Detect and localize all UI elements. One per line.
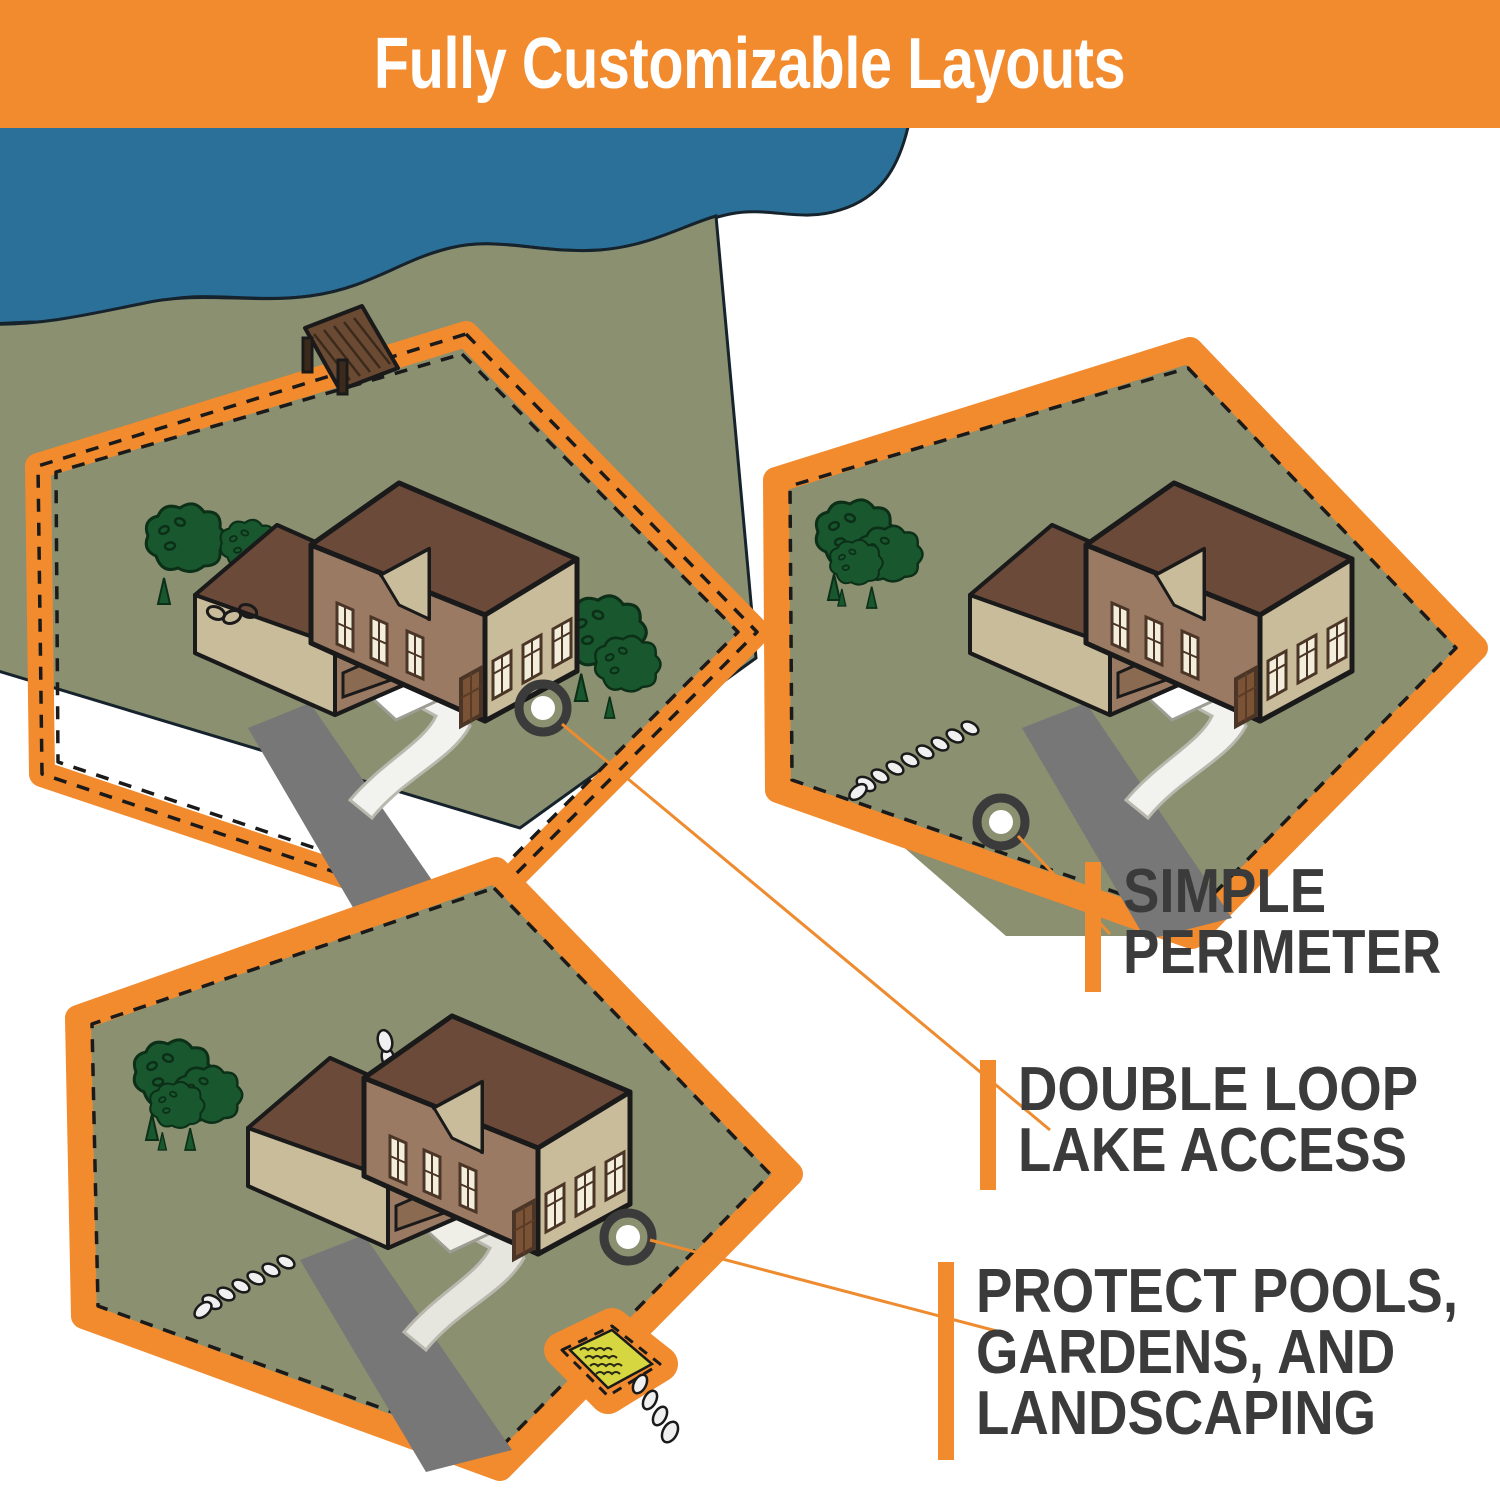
callout-accent-bar xyxy=(1085,862,1101,992)
yard-simple-perimeter[interactable] xyxy=(776,350,1475,940)
page-title: Fully Customizable Layouts xyxy=(374,28,1125,100)
callout-line: DOUBLE LOOP xyxy=(1018,1060,1418,1121)
callout-double-loop-lake-access: DOUBLE LOOP LAKE ACCESS xyxy=(980,1060,1473,1190)
callout-line: LAKE ACCESS xyxy=(1018,1121,1418,1182)
callout-text: PROTECT POOLS, GARDENS, AND LANDSCAPING xyxy=(976,1262,1458,1460)
header-band: Fully Customizable Layouts xyxy=(0,0,1500,128)
callout-accent-bar xyxy=(938,1262,954,1460)
callout-text: SIMPLE PERIMETER xyxy=(1123,862,1441,992)
callout-simple-perimeter: SIMPLE PERIMETER xyxy=(1085,862,1485,992)
callout-accent-bar xyxy=(980,1060,996,1190)
callout-line: SIMPLE xyxy=(1123,862,1441,923)
yard-protect-pools[interactable] xyxy=(78,870,790,1472)
callout-protect-pools-gardens-landscaping: PROTECT POOLS, GARDENS, AND LANDSCAPING xyxy=(938,1262,1500,1460)
callout-line: PROTECT POOLS, xyxy=(976,1262,1458,1323)
infographic-root: Fully Customizable Layouts xyxy=(0,0,1500,1500)
yard-double-loop-lake[interactable] xyxy=(0,216,757,940)
callout-line: GARDENS, AND xyxy=(976,1323,1458,1384)
callout-line: LANDSCAPING xyxy=(976,1384,1458,1445)
callout-text: DOUBLE LOOP LAKE ACCESS xyxy=(1018,1060,1418,1190)
callout-line: PERIMETER xyxy=(1123,923,1441,984)
